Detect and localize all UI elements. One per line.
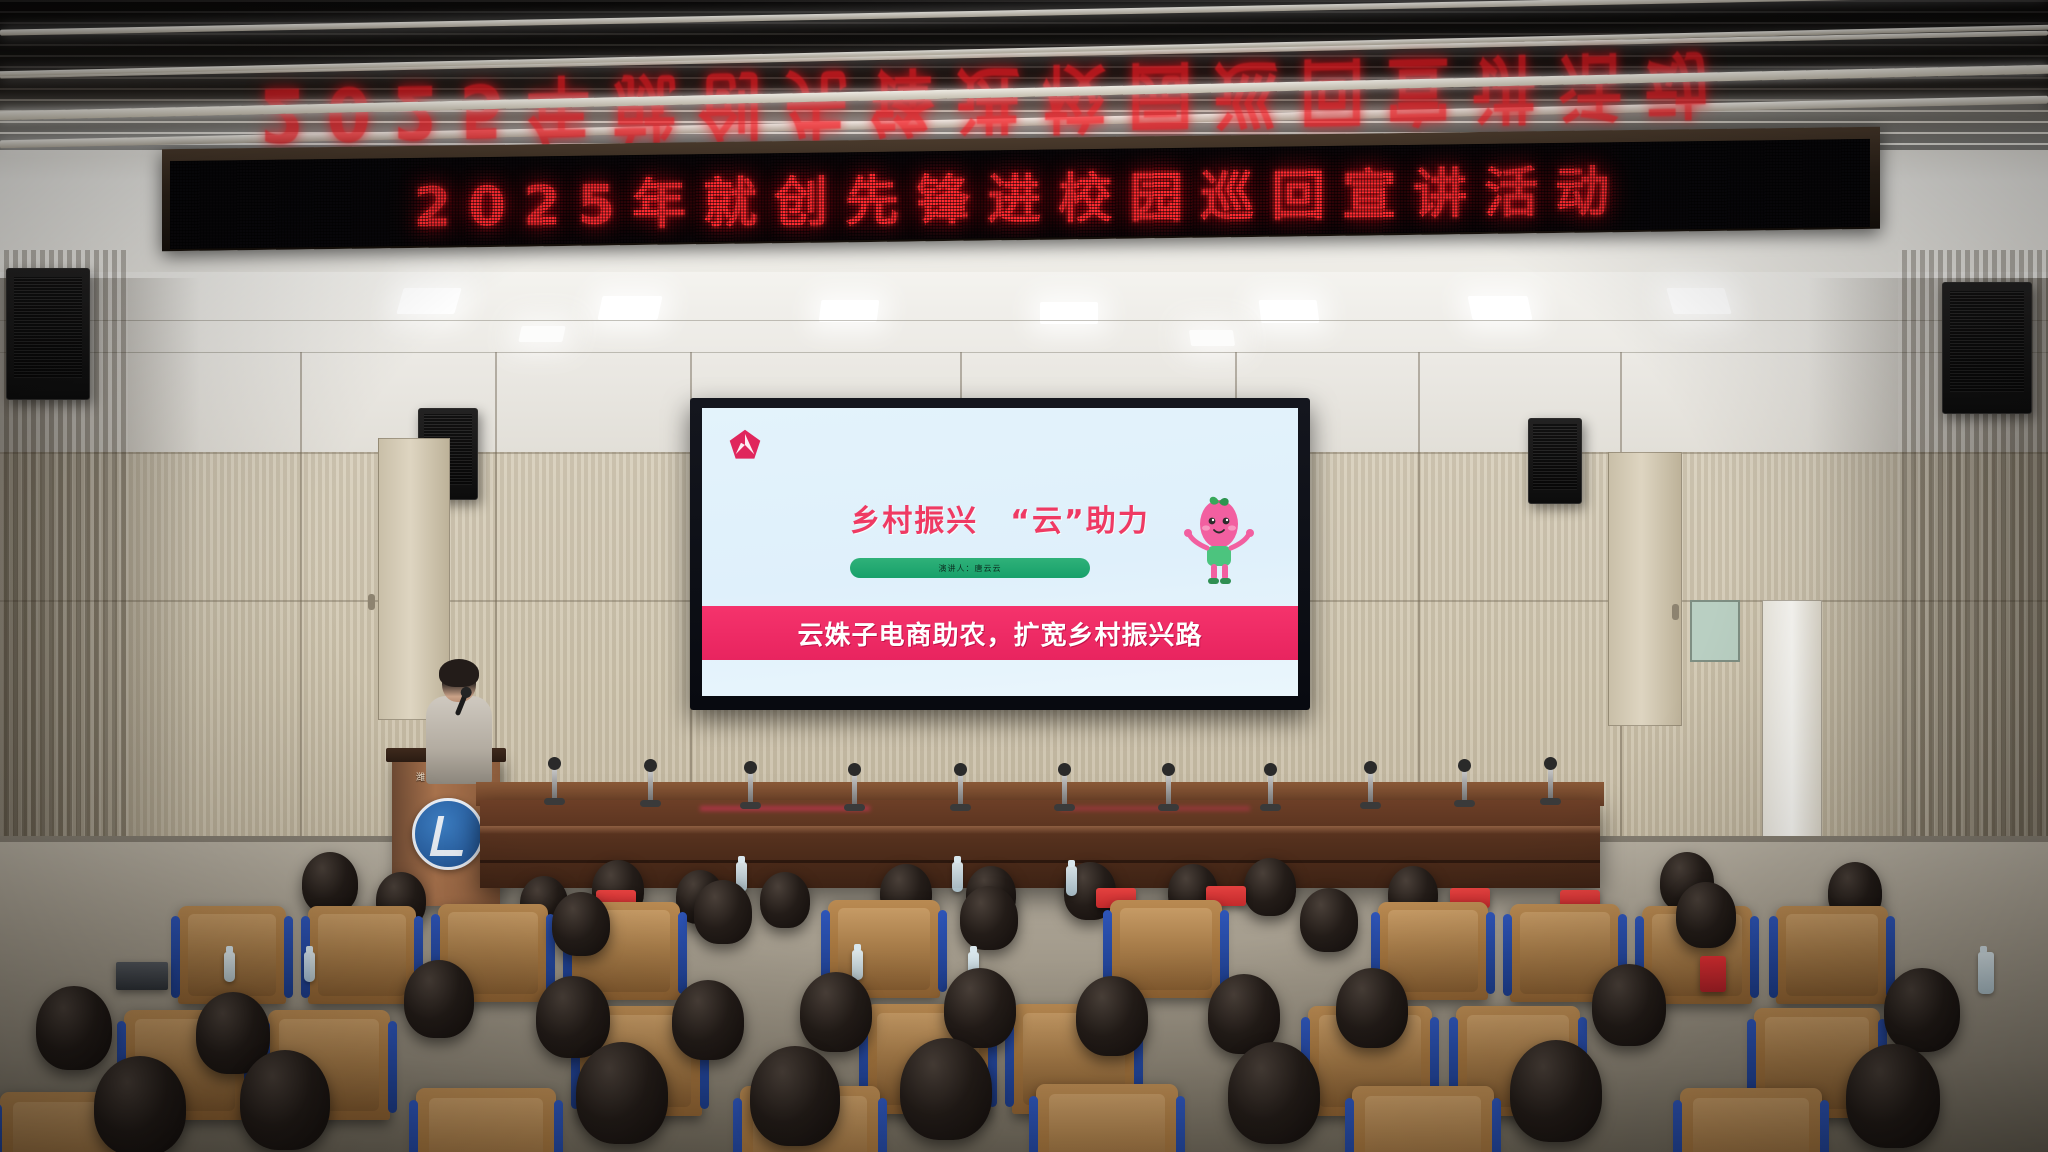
water-bottle: [224, 952, 235, 982]
water-bottle: [952, 862, 963, 892]
side-door-right[interactable]: [1608, 452, 1682, 726]
seat-cushion: [1365, 1096, 1481, 1152]
presenter: [424, 662, 496, 782]
audience-head: [1300, 888, 1358, 952]
ceiling-panel-light-6: [1467, 296, 1532, 320]
table-microphone-5: [958, 772, 963, 806]
auditorium-seat[interactable]: [1680, 1088, 1822, 1152]
door-handle-right[interactable]: [1672, 604, 1679, 620]
thermos-bottle: [1700, 956, 1726, 992]
speaker-grille: [1950, 291, 2024, 392]
audience-head: [1884, 968, 1960, 1052]
seat-cushion: [1520, 912, 1610, 994]
audience-head: [900, 1038, 992, 1140]
slide-banner-text: 云姝子电商助农，扩宽乡村振兴路: [797, 615, 1202, 652]
head-table: [480, 800, 1600, 888]
auditorium-seat[interactable]: [308, 906, 416, 1004]
table-microphone-6: [1062, 772, 1067, 806]
audience-head: [36, 986, 112, 1070]
door-handle-left[interactable]: [368, 594, 375, 610]
table-microphone-4: [852, 772, 857, 806]
speaker-grille: [1533, 424, 1577, 490]
audience-head: [1336, 968, 1408, 1048]
table-microphone-10: [1462, 768, 1467, 802]
table-microphone-9: [1368, 770, 1373, 804]
university-crest-icon: [412, 798, 484, 870]
auditorium-seat[interactable]: [1776, 906, 1888, 1004]
projection-screen[interactable]: 乡村振兴 “云”助力 演讲人：唐云云 云姝子: [702, 408, 1298, 696]
seat-cushion: [429, 1098, 544, 1152]
audience-head: [404, 960, 474, 1038]
wall-joint-6: [1418, 352, 1420, 852]
seat-cushion: [1120, 908, 1212, 990]
wall-speaker-right: [1528, 418, 1582, 504]
audience-head: [1244, 858, 1296, 916]
table-reflected-glow-right: [1060, 806, 1250, 811]
water-bottle: [1066, 866, 1077, 896]
sweet-potato-mascot-icon: [1182, 494, 1256, 590]
led-banner-text: 2025年就创先锋进校园巡回宣讲活动: [414, 147, 1626, 242]
wall-speaker-far-right: [1942, 282, 2032, 414]
table-microphone-2: [648, 768, 653, 802]
seat-cushion: [1786, 914, 1878, 996]
ceiling-panel-light-3: [819, 300, 880, 322]
seat-cushion: [1693, 1098, 1809, 1152]
water-bottle: [1978, 952, 1994, 994]
ceiling-panel-light-1: [396, 288, 461, 314]
table-microphone-11: [1548, 766, 1553, 800]
slide-speaker-label: 演讲人：唐云云: [939, 563, 1002, 574]
audience-head: [694, 880, 752, 944]
ceiling-seam-2: [0, 352, 2048, 353]
audience-head: [1676, 882, 1736, 948]
laptop[interactable]: [116, 962, 168, 990]
head-table-highlight: [480, 826, 1600, 834]
audience-head: [94, 1056, 186, 1152]
audience-head: [750, 1046, 840, 1146]
audience-head: [536, 976, 610, 1058]
seat-cushion: [1388, 910, 1478, 992]
audience-head: [1592, 964, 1666, 1046]
wall-notice-panel: [1690, 600, 1740, 662]
head-table-trim: [480, 860, 1600, 863]
wall-joint-1: [300, 352, 302, 852]
ceiling-panel-light-8: [518, 326, 565, 342]
star-emblem-icon: [728, 428, 762, 462]
audience-head: [1076, 976, 1148, 1056]
audience-head: [944, 968, 1016, 1048]
ceiling-panel-light-9: [1189, 330, 1235, 346]
slide-speaker-bar: 演讲人：唐云云: [850, 558, 1090, 578]
water-bottle: [852, 950, 863, 980]
audience-head: [1846, 1044, 1940, 1148]
audience-head: [672, 980, 744, 1060]
ceiling-seam-1: [0, 320, 2048, 321]
presenter-hair: [439, 659, 479, 687]
audience-head: [552, 892, 610, 956]
audience-head: [960, 886, 1018, 950]
auditorium-seat[interactable]: [1036, 1084, 1178, 1152]
slide-bottom-banner: 云姝子电商助农，扩宽乡村振兴路: [702, 606, 1298, 660]
speaker-grille: [14, 277, 83, 378]
audience-head: [1510, 1040, 1602, 1142]
wall-speaker-far-left: [6, 268, 90, 400]
table-microphone-7: [1166, 772, 1171, 806]
auditorium-seat[interactable]: [1352, 1086, 1494, 1152]
audience-head: [800, 972, 872, 1052]
water-bottle: [304, 952, 315, 982]
seat-cushion: [1049, 1094, 1165, 1152]
audience-head: [1228, 1042, 1320, 1144]
audience-head: [576, 1042, 668, 1144]
table-microphone-8: [1268, 772, 1273, 806]
seat-cushion: [318, 914, 407, 996]
audience-head: [240, 1050, 330, 1150]
ceiling-panel-light-2: [597, 296, 662, 320]
audience-head: [302, 852, 358, 914]
ceiling-panel-light-7: [1666, 288, 1731, 314]
table-microphone-3: [748, 770, 753, 804]
audience-head: [760, 872, 810, 928]
auditorium-seat[interactable]: [416, 1088, 556, 1152]
auditorium-photo: 2025年就创先锋进校园巡回宣讲活动 2025年就创先锋进校园巡回宣讲活动: [0, 0, 2048, 1152]
table-microphone-1: [552, 766, 557, 800]
